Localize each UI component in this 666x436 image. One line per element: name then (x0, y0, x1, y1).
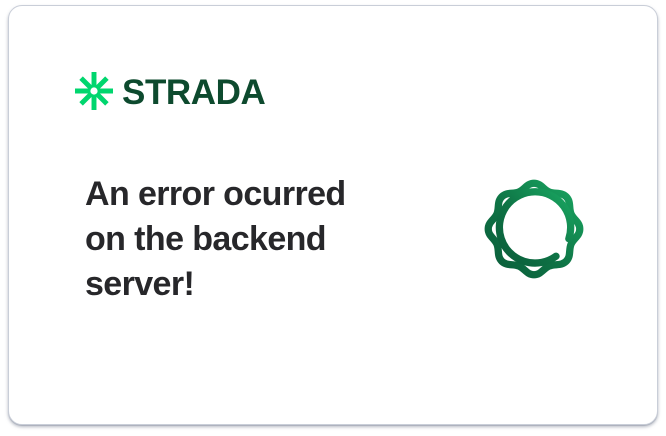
strada-asterisk-icon (75, 72, 113, 110)
screen-root: STRADA An error ocurred on the backend s… (0, 0, 666, 436)
error-headline: An error ocurred on the backend server! (85, 172, 385, 307)
brand-wordmark: STRADA (122, 75, 265, 110)
brand-lockup: STRADA (75, 66, 265, 116)
gear-icon (453, 148, 615, 310)
error-card: STRADA An error ocurred on the backend s… (8, 5, 658, 425)
